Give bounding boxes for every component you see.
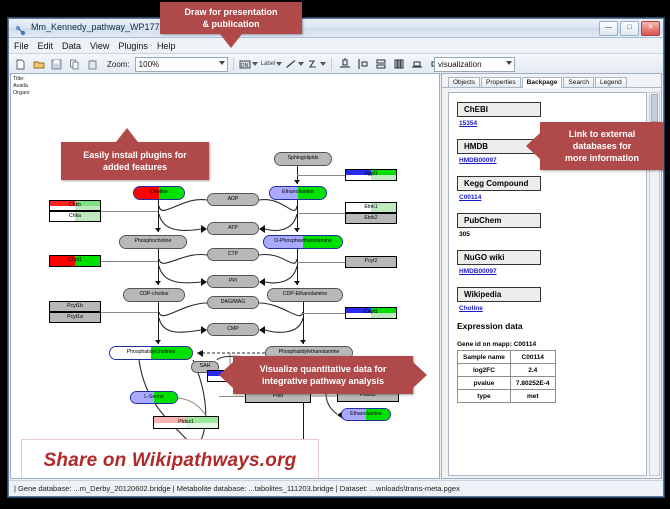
status-bar: | Gene database: ...m_Derby_20120602.bri… bbox=[9, 480, 663, 496]
menu-edit[interactable]: Edit bbox=[38, 41, 54, 51]
node-label: PPi bbox=[229, 279, 237, 284]
gene-node-etnk1[interactable]: Etnk1 bbox=[345, 202, 397, 213]
chevron-down-icon bbox=[276, 62, 282, 66]
node-label: L-Serine bbox=[144, 395, 164, 400]
align-left-icon[interactable] bbox=[355, 57, 370, 72]
expression-value: 7.80252E-4 bbox=[510, 377, 555, 390]
toolbar-separator bbox=[331, 58, 332, 71]
metabolite-node-adp[interactable]: ADP bbox=[207, 193, 259, 206]
paste-icon[interactable] bbox=[85, 57, 100, 72]
metabolite-node-ethanolamine-right[interactable]: Ethanolamine bbox=[341, 408, 391, 421]
pathway-availability-label: Availa bbox=[13, 83, 30, 90]
toolbar-separator bbox=[233, 58, 234, 71]
callout-visualize-tail-left bbox=[219, 362, 233, 388]
svg-text:DN: DN bbox=[241, 63, 249, 69]
callout-link-tail bbox=[526, 133, 540, 159]
visualization-value: visualization bbox=[438, 60, 482, 69]
gene-node-sgpl1[interactable]: Sgpl1 bbox=[345, 169, 397, 181]
chevron-down-icon bbox=[252, 62, 258, 66]
metabolite-node-choline-top[interactable]: Choline bbox=[133, 186, 185, 200]
arrow-icon bbox=[300, 340, 306, 344]
connector-sgpl1 bbox=[297, 175, 345, 176]
table-row: typemet bbox=[458, 390, 556, 403]
gene-node-pcyt1a[interactable]: Pcyt1a bbox=[49, 312, 101, 323]
callout-draw-line2: & publication bbox=[203, 18, 260, 30]
tab-search[interactable]: Search bbox=[563, 77, 594, 88]
metabolite-node-ethanolamine-top[interactable]: Ethanolamine bbox=[269, 186, 327, 200]
menu-plugins[interactable]: Plugins bbox=[118, 41, 148, 51]
node-label: Ethanolamine bbox=[350, 412, 382, 417]
application-window: Mm_Kennedy_pathway_WP1771_45176.gpml — □… bbox=[8, 18, 664, 497]
metabolite-node-atp[interactable]: ATP bbox=[207, 222, 259, 235]
maximize-button[interactable]: □ bbox=[620, 21, 639, 36]
node-label: Etnk1 bbox=[364, 205, 377, 210]
node-label: Phosphatidylcholines bbox=[127, 350, 176, 355]
node-label: O-Phosphoethanolamine bbox=[274, 239, 331, 244]
node-label: Phosphocholine bbox=[135, 239, 172, 244]
node-label: Ethanolamine bbox=[282, 190, 314, 195]
arrow-icon bbox=[294, 180, 300, 184]
save-icon[interactable] bbox=[49, 57, 64, 72]
node-label: Ptdss1 bbox=[178, 420, 194, 425]
arrow-icon bbox=[155, 340, 161, 344]
close-button[interactable]: ✕ bbox=[641, 21, 660, 36]
connector-chpt1 bbox=[101, 261, 158, 262]
callout-plugins-line1: Easily install plugins for bbox=[83, 149, 187, 161]
node-label: SAH bbox=[200, 364, 211, 369]
metabolite-node-sphingolipids[interactable]: Sphingolipids bbox=[274, 152, 332, 166]
anchor-tool[interactable] bbox=[307, 59, 326, 70]
gene-id-line: Gene id on mapp: C00114 bbox=[457, 341, 638, 348]
edge-cdpcholine-pc bbox=[158, 302, 159, 344]
arrow-icon bbox=[294, 281, 300, 285]
database-link-wikipedia[interactable]: Choline bbox=[459, 305, 638, 312]
database-header-nugo-wiki: NuGO wiki bbox=[457, 250, 541, 265]
menu-data[interactable]: Data bbox=[62, 41, 81, 51]
gene-node-chka[interactable]: Chka bbox=[49, 211, 101, 222]
callout-plugins-tail bbox=[116, 128, 138, 142]
callout-draw-line1: Draw for presentation bbox=[184, 6, 277, 18]
table-row: pvalue7.80252E-4 bbox=[458, 377, 556, 390]
callout-plugins: Easily install plugins for added feature… bbox=[61, 142, 209, 180]
tab-legend[interactable]: Legend bbox=[595, 77, 627, 88]
metabolite-node-dagmag[interactable]: DAG/MAG bbox=[207, 296, 259, 309]
node-label: CDP-choline bbox=[139, 292, 168, 297]
new-file-icon[interactable] bbox=[13, 57, 28, 72]
metabolite-node-ctp[interactable]: CTP bbox=[207, 248, 259, 261]
callout-draw-tail bbox=[220, 34, 242, 48]
node-label: Sgpl1 bbox=[364, 172, 377, 177]
connector-pisd bbox=[219, 396, 245, 397]
gene-node-pcyt1b[interactable]: Pcyt1b bbox=[49, 301, 101, 312]
title-bar: Mm_Kennedy_pathway_WP1771_45176.gpml — □… bbox=[9, 19, 663, 38]
node-label: CMP bbox=[227, 327, 239, 332]
align-stack-icon[interactable] bbox=[373, 57, 388, 72]
database-header-kegg-compound: Kegg Compound bbox=[457, 176, 541, 191]
callout-visualize-line2: integrative pathway analysis bbox=[262, 375, 384, 387]
node-label: CTP bbox=[228, 252, 238, 257]
zoom-value: 100% bbox=[139, 60, 159, 69]
metabolite-node-ppi[interactable]: PPi bbox=[207, 275, 259, 288]
share-banner: Share on Wikipathways.org bbox=[21, 439, 319, 479]
copy-icon[interactable] bbox=[67, 57, 82, 72]
zoom-label: Zoom: bbox=[107, 60, 130, 69]
arrow-icon bbox=[294, 228, 300, 232]
database-link-nugo-wiki[interactable]: HMDB00097 bbox=[459, 268, 638, 275]
connector-etnk bbox=[297, 213, 345, 214]
gene-node-cept1[interactable]: Cept1 bbox=[345, 307, 397, 319]
zoom-combobox[interactable]: 100% bbox=[135, 57, 228, 72]
connector-cept1 bbox=[303, 313, 345, 314]
chevron-down-icon bbox=[298, 62, 304, 66]
side-panel-tabs: Objects Properties Backpage Search Legen… bbox=[442, 74, 661, 88]
minimize-button[interactable]: — bbox=[599, 21, 618, 36]
datanode-tool[interactable]: DN bbox=[239, 59, 258, 70]
pathvisio-icon bbox=[15, 23, 26, 34]
pathway-canvas[interactable]: Title: Availa Organi bbox=[10, 73, 440, 479]
screenshot-root: Mm_Kennedy_pathway_WP1771_45176.gpml — □… bbox=[0, 0, 670, 509]
connector-pcyt2 bbox=[297, 262, 345, 263]
line-tool[interactable] bbox=[285, 59, 304, 69]
tab-backpage[interactable]: Backpage bbox=[522, 77, 563, 89]
scrollbar-thumb[interactable] bbox=[651, 94, 658, 122]
node-label: Sphingolipids bbox=[288, 156, 319, 161]
share-banner-text: Share on Wikipathways.org bbox=[44, 450, 297, 472]
node-label: Chkb bbox=[69, 203, 81, 208]
chevron-down-icon bbox=[506, 61, 512, 65]
node-label: Pcyt1b bbox=[67, 304, 83, 309]
table-row: log2FC2.4 bbox=[458, 364, 556, 377]
expression-table: Sample nameC00114log2FC2.4pvalue7.80252E… bbox=[457, 350, 556, 403]
expression-key: pvalue bbox=[458, 377, 511, 390]
node-label: Phosphatidylethanolamine bbox=[279, 350, 340, 355]
callout-visualize: Visualize quantitative data for integrat… bbox=[233, 356, 413, 394]
arrow-icon bbox=[155, 281, 161, 285]
menu-bar: File Edit Data View Plugins Help bbox=[9, 38, 663, 54]
pathway-header-labels: Title: Availa Organi bbox=[13, 76, 30, 97]
distribute-icon[interactable] bbox=[391, 57, 406, 72]
chevron-down-icon bbox=[219, 61, 225, 65]
pathway-title-label: Title: bbox=[13, 76, 30, 83]
metabolite-node-cdp-choline[interactable]: CDP-choline bbox=[123, 288, 185, 302]
gene-node-etnk2[interactable]: Etnk2 bbox=[345, 213, 397, 224]
database-value-pubchem: 305 bbox=[459, 231, 638, 238]
callout-link-line1: Link to external bbox=[569, 128, 636, 140]
node-label: ATP bbox=[228, 226, 238, 231]
expression-value: met bbox=[510, 390, 555, 403]
open-folder-icon[interactable] bbox=[31, 57, 46, 72]
database-header-wikipedia: Wikipedia bbox=[457, 287, 541, 302]
table-row: Sample nameC00114 bbox=[458, 351, 556, 364]
callout-link-line3: more information bbox=[565, 152, 639, 164]
callout-link-line2: databases for bbox=[573, 140, 632, 152]
callout-plugins-line2: added features bbox=[103, 161, 167, 173]
node-label: DAG/MAG bbox=[221, 300, 246, 305]
callout-draw: Draw for presentation & publication bbox=[160, 2, 302, 34]
metabolite-node-phosphocholine[interactable]: Phosphocholine bbox=[119, 235, 187, 249]
visualization-combobox[interactable]: visualization bbox=[434, 57, 515, 72]
database-header-chebi: ChEBI bbox=[457, 102, 541, 117]
node-label: Pcyt2 bbox=[365, 259, 378, 264]
expression-data-heading: Expression data bbox=[457, 321, 638, 331]
tab-objects[interactable]: Objects bbox=[448, 77, 480, 88]
tab-properties[interactable]: Properties bbox=[481, 77, 521, 88]
metabolite-node-phosphatidylcholines[interactable]: Phosphatidylcholines bbox=[109, 346, 193, 360]
chevron-down-icon bbox=[320, 62, 326, 66]
node-label: Choline bbox=[150, 190, 168, 195]
callout-visualize-line1: Visualize quantitative data for bbox=[260, 363, 387, 375]
expression-key: Sample name bbox=[458, 351, 511, 364]
edge-cdpethanolamine-pe bbox=[303, 302, 304, 344]
menu-file[interactable]: File bbox=[14, 41, 29, 51]
node-label: Chka bbox=[69, 214, 81, 219]
menu-help[interactable]: Help bbox=[157, 41, 176, 51]
align-top-icon[interactable] bbox=[337, 57, 352, 72]
connector-pcyt1 bbox=[101, 312, 158, 313]
gene-node-ptdss1[interactable]: Ptdss1 bbox=[153, 416, 219, 429]
gene-node-chkb[interactable]: Chkb bbox=[49, 200, 101, 211]
label-tool[interactable]: Label bbox=[261, 61, 283, 67]
metabolite-node-cmp[interactable]: CMP bbox=[207, 323, 259, 336]
metabolite-node-l-serine-left[interactable]: L-Serine bbox=[130, 391, 178, 404]
label-tool-text: Label bbox=[261, 61, 276, 67]
node-label: CDP-Ethanolamine bbox=[283, 292, 327, 297]
callout-link: Link to external databases for more info… bbox=[540, 122, 664, 170]
metabolite-node-o-phosphoethanolamine[interactable]: O-Phosphoethanolamine bbox=[263, 235, 343, 249]
expression-value: C00114 bbox=[510, 351, 555, 364]
expression-key: type bbox=[458, 390, 511, 403]
align-bottom-icon[interactable] bbox=[409, 57, 424, 72]
node-label: Pcyt1a bbox=[67, 315, 83, 320]
status-text: | Gene database: ...m_Derby_20120602.bri… bbox=[9, 484, 460, 493]
connector-chk bbox=[101, 211, 158, 212]
node-label: Etnk2 bbox=[364, 216, 377, 221]
node-label: Pisd bbox=[273, 394, 283, 399]
edge-ope-cdpethanolamine bbox=[297, 249, 298, 285]
expression-key: log2FC bbox=[458, 364, 511, 377]
node-label: Cept1 bbox=[364, 310, 378, 315]
window-controls: — □ ✕ bbox=[599, 21, 660, 36]
gene-node-chpt1[interactable]: Chpt1 bbox=[49, 255, 101, 267]
menu-view[interactable]: View bbox=[90, 41, 109, 51]
database-link-kegg-compound[interactable]: C00114 bbox=[459, 194, 638, 201]
gene-node-pcyt2[interactable]: Pcyt2 bbox=[345, 256, 397, 268]
callout-visualize-tail-right bbox=[413, 362, 427, 388]
node-label: ADP bbox=[228, 197, 239, 202]
database-header-pubchem: PubChem bbox=[457, 213, 541, 228]
metabolite-node-cdp-ethanolamine[interactable]: CDP-Ethanolamine bbox=[267, 288, 343, 302]
node-label: Chpt1 bbox=[68, 258, 82, 263]
pathway-organism-label: Organi bbox=[13, 90, 30, 97]
arrow-icon bbox=[155, 228, 161, 232]
expression-value: 2.4 bbox=[510, 364, 555, 377]
edge-phosphocholine-cdpcholine bbox=[158, 249, 159, 285]
